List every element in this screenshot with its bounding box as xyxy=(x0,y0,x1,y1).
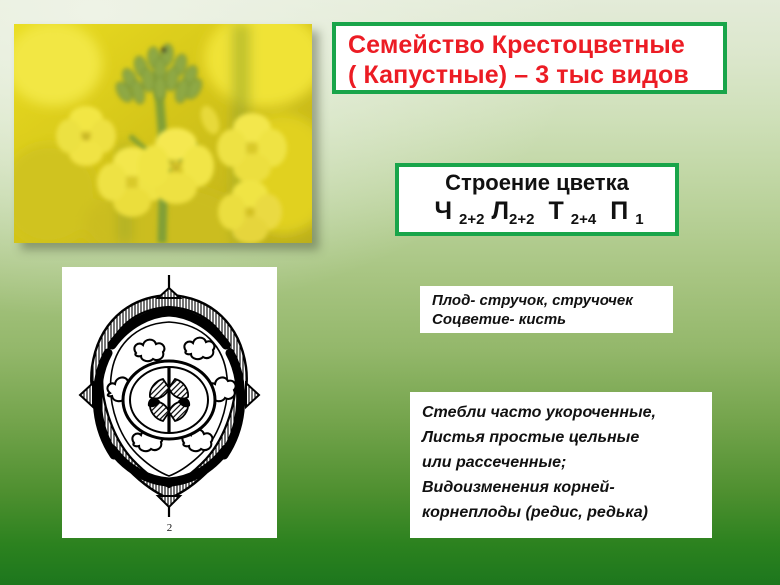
flower-formula: Ч2+2Л2+2Т2+4П1 xyxy=(399,196,675,230)
features-line-4: Видоизменения корней- xyxy=(422,475,712,500)
corolla-letter: Л xyxy=(491,197,509,225)
title-box: Семейство Крестоцветные ( Капустные) – 3… xyxy=(332,22,727,94)
floral-diagram-artwork xyxy=(62,267,277,538)
features-line-1: Стебли часто укороченные, xyxy=(422,400,712,425)
fruit-line-1: Плод- стручок, стручочек xyxy=(432,291,673,310)
stamens-subscript: 2+4 xyxy=(571,211,596,228)
title-line-1: Семейство Крестоцветные xyxy=(348,30,723,60)
fruit-inflorescence-box: Плод- стручок, стручочек Соцветие- кисть xyxy=(420,286,673,333)
title-line-2: ( Капустные) – 3 тыс видов xyxy=(348,60,723,90)
photo-artwork xyxy=(14,24,312,243)
calyx-subscript: 2+2 xyxy=(459,211,484,228)
flower-structure-heading: Строение цветка xyxy=(399,169,675,196)
rapeseed-flowers-photo xyxy=(14,24,312,243)
diagram-caption: 2 xyxy=(62,522,277,534)
features-line-5: корнеплоды (редис, редька) xyxy=(422,500,712,525)
stamens-letter: Т xyxy=(548,197,563,225)
features-line-2: Листья простые цельные xyxy=(422,425,712,450)
pistil-letter: П xyxy=(610,197,628,225)
floral-diagram: 2 xyxy=(62,267,277,538)
flower-structure-box: Строение цветка Ч2+2Л2+2Т2+4П1 xyxy=(395,163,679,236)
corolla-subscript: 2+2 xyxy=(509,211,534,228)
features-box: Стебли часто укороченные, Листья простые… xyxy=(410,392,712,538)
pistil-subscript: 1 xyxy=(635,211,643,228)
calyx-letter: Ч xyxy=(434,197,452,225)
slide-canvas: 2 Семейство Крестоцветные ( Капустные) –… xyxy=(0,0,780,585)
features-line-3: или рассеченные; xyxy=(422,450,712,475)
fruit-line-2: Соцветие- кисть xyxy=(432,310,673,329)
